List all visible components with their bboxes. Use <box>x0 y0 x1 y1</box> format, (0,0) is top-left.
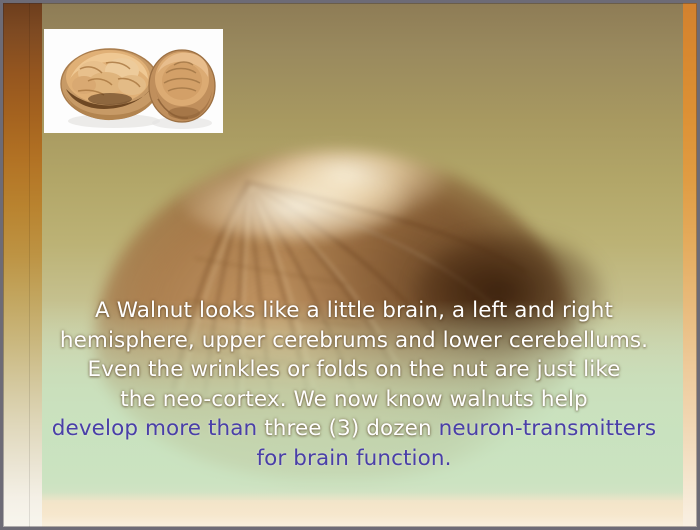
left-gradient-strip <box>0 0 42 530</box>
caption-line-4: the neo-cortex. We now know walnuts help <box>44 385 664 415</box>
left-strip-divider-line <box>29 0 30 530</box>
caption-segment: Even the wrinkles or folds on the nut ar… <box>88 357 621 382</box>
caption-line-5: develop more than three (3) dozen neuron… <box>44 414 664 444</box>
caption-line-6: for brain function. <box>44 444 664 474</box>
walnut-inset-photo <box>44 29 223 133</box>
caption-segment: the neo-cortex. We now know walnuts help <box>120 387 588 412</box>
caption-line-2: hemisphere, upper cerebrums and lower ce… <box>44 326 664 356</box>
caption-line-1: A Walnut looks like a little brain, a le… <box>44 296 664 326</box>
caption-text: A Walnut looks like a little brain, a le… <box>44 296 664 473</box>
caption-segment-purple: develop more than <box>52 416 264 441</box>
caption-segment: A Walnut looks like a little brain, a le… <box>95 298 613 323</box>
slide-canvas: A Walnut looks like a little brain, a le… <box>0 0 700 530</box>
caption-segment-purple: for brain function. <box>256 446 451 471</box>
caption-segment-purple: neuron-transmitters <box>439 416 657 441</box>
walnut-apex-highlight <box>180 160 410 240</box>
caption-segment: hemisphere, upper cerebrums and lower ce… <box>60 328 648 353</box>
right-gradient-strip <box>683 0 700 530</box>
caption-segment-white: three (3) dozen <box>264 416 438 441</box>
bottom-cream-band <box>0 492 700 530</box>
caption-line-3: Even the wrinkles or folds on the nut ar… <box>44 355 664 385</box>
